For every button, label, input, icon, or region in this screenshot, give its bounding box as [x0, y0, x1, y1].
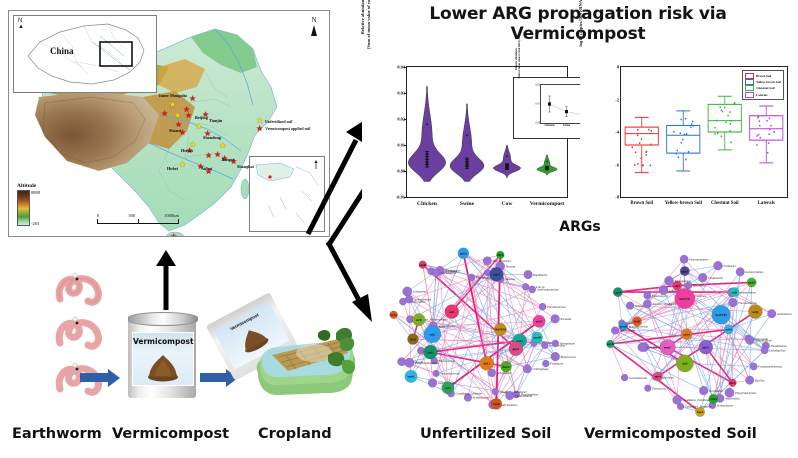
svg-text:Massilia: Massilia [504, 277, 516, 281]
box-y-tick: -8 [615, 195, 619, 200]
svg-text:Nocardia: Nocardia [559, 317, 571, 321]
compost-pile-icon [133, 349, 193, 383]
box-legend-row: Yellow-brown Soil [745, 79, 781, 85]
svg-text:Nitrosomonas: Nitrosomonas [438, 359, 456, 363]
svg-text:ermB: ermB [620, 324, 627, 328]
svg-text:ermC: ermC [664, 345, 672, 349]
box-legend-swatch [745, 92, 754, 98]
svg-text:sul2: sul2 [430, 332, 436, 336]
map-place-label: Inner Mongolia [159, 93, 187, 98]
svg-text:tetM: tetM [726, 328, 732, 332]
svg-text:Dinoroseobacter: Dinoroseobacter [688, 257, 709, 261]
altitude-max-label: 8888 [31, 190, 40, 195]
earthworm-icon-1 [52, 269, 108, 309]
svg-text:Acidobacteria: Acidobacteria [472, 396, 490, 400]
map-place-label: Jiangsu [221, 157, 235, 162]
svg-text:qnrS: qnrS [513, 347, 520, 351]
box-x-label: Brown Soil [630, 201, 653, 206]
box-plot-panel: log10 (copies/16S rRNA copies) -8-6-4-20… [580, 58, 794, 228]
inset-y-tick: 0.00 [535, 122, 540, 125]
violin-y-tickmark [404, 145, 407, 146]
svg-text:tnpA: tnpA [697, 410, 704, 414]
svg-text:Planctomyces: Planctomyces [651, 294, 669, 298]
svg-text:vanA: vanA [710, 397, 718, 401]
svg-text:floR: floR [634, 320, 640, 324]
svg-text:vanA: vanA [493, 402, 501, 406]
svg-text:blaCTX: blaCTX [679, 297, 690, 301]
violin-plot-panel: Relative abundance (Sum of mean value of… [362, 58, 574, 228]
svg-text:blaTEM: blaTEM [495, 328, 506, 332]
legend-label-unfertilized: Unfertilized soil [265, 119, 292, 124]
china-sampling-map: N▲ China [8, 10, 330, 237]
box-legend-swatch [745, 79, 754, 85]
inset-ylabel-line2: (Sum of mean value of total ARGs) [518, 40, 521, 79]
svg-text:Sphingobium: Sphingobium [560, 342, 575, 346]
box-y-tick: -4 [615, 130, 619, 135]
map-star-unfertilized: ★ [174, 112, 181, 120]
svg-text:Chujaibacter: Chujaibacter [708, 276, 724, 280]
label-cropland: Cropland [258, 426, 332, 442]
network-svg-vermicomposted: PseudomonasLysinibacillusPseudoxanthomon… [583, 238, 798, 426]
violin-x-label: Vermicompost [530, 201, 565, 207]
map-star-unfertilized: ★ [195, 123, 202, 131]
svg-text:Verrucomicrobia: Verrucomicrobia [440, 372, 460, 376]
svg-text:Flavisolibacter: Flavisolibacter [514, 394, 534, 398]
svg-text:aphA: aphA [681, 269, 689, 273]
inset-y-axis-label: Relative abundance (Sum of mean value of… [515, 36, 521, 82]
network-labels: Unfertilized Soil Vermicomposted Soil [368, 426, 798, 454]
svg-text:Alterererythrobacter: Alterererythrobacter [651, 302, 677, 306]
box-legend-row: Chestnut Soil [745, 85, 781, 91]
svg-text:Candidatus_Solibacter: Candidatus_Solibacter [456, 392, 484, 396]
svg-text:Gemmatimonas: Gemmatimonas [629, 376, 648, 380]
violin-y-tickmark [404, 93, 407, 94]
box-y-axis-label: log10 (copies/16S rRNA copies) [578, 0, 583, 72]
svg-text:Flavobacterium: Flavobacterium [737, 301, 756, 305]
svg-text:Lysinibacillus: Lysinibacillus [768, 349, 786, 353]
inset-y-tick: 0.02 [535, 84, 540, 87]
svg-text:qnrS: qnrS [655, 375, 662, 379]
process-step-labels: Earthworm Vermicompost Cropland [0, 426, 360, 454]
svg-text:Wautersiella: Wautersiella [725, 397, 740, 401]
violin-plot-area: -0.010.000.010.020.030.04 ChickenSwineCo… [406, 66, 568, 198]
box-plot-area: -8-6-4-20 Brown SoilYellow-brown SoilChe… [620, 66, 788, 198]
svg-text:dfrA: dfrA [497, 253, 504, 257]
svg-text:Flavobacterium: Flavobacterium [546, 305, 565, 309]
svg-text:sul3: sul3 [445, 386, 451, 390]
box-legend-swatch [745, 85, 754, 91]
violin-x-label: Chicken [417, 201, 437, 207]
network-unfertilized-soil: metagenomePseudomonasPedobacterChitinoph… [368, 238, 586, 426]
svg-text:Blastococcus: Blastococcus [561, 355, 577, 359]
svg-text:blaTEM: blaTEM [716, 313, 727, 317]
can-label-text: Vermicompost [133, 337, 193, 346]
svg-text:oqxB: oqxB [419, 263, 426, 267]
svg-text:Luteimonas: Luteimonas [412, 290, 427, 294]
violin-y-tickmark [404, 119, 407, 120]
svg-text:Sphingomonas: Sphingomonas [414, 297, 432, 301]
map-star-unfertilized: ★ [169, 101, 176, 109]
svg-text:strB: strB [732, 290, 738, 294]
altitude-gradient-bar [17, 190, 30, 226]
scalebar-tick-500: 500 [128, 213, 135, 218]
box-x-label: Laterals [758, 201, 775, 206]
svg-text:oqxB: oqxB [607, 342, 614, 346]
label-unfertilized-soil: Unfertilized Soil [420, 426, 551, 442]
svg-text:strB: strB [416, 318, 422, 322]
svg-text:mefA: mefA [502, 365, 510, 369]
box-legend-row: Brown Soil [745, 73, 781, 79]
violin-y-tickmark [404, 171, 407, 172]
violin-y-tickmark [404, 67, 407, 68]
svg-text:cmlA: cmlA [614, 290, 622, 294]
inset-x-label: Swine [563, 124, 570, 127]
map-star-vermicompost: ★ [185, 112, 192, 120]
svg-text:Phenylobacterium: Phenylobacterium [734, 391, 756, 395]
svg-text:intI1: intI1 [703, 345, 710, 349]
map-star-vermicompost: ★ [189, 95, 196, 103]
altitude-legend: Altitude 8888 -263 [17, 183, 36, 226]
box-x-label: Chestnut Soil [711, 201, 739, 206]
label-vermicompost: Vermicompost [112, 426, 229, 442]
svg-text:Bacillus: Bacillus [755, 378, 765, 382]
earthworm-icon-2 [52, 313, 108, 353]
svg-text:aadA: aadA [683, 332, 691, 336]
map-star-vermicompost: ★ [205, 152, 212, 160]
scalebar-tick-0: 0 [97, 213, 99, 218]
china-outline-svg [14, 16, 156, 92]
svg-text:mefA: mefA [748, 281, 756, 285]
svg-text:Fusibacter: Fusibacter [722, 264, 736, 268]
map-star-vermicompost: ★ [170, 233, 177, 237]
violin-x-label: Swine [460, 201, 474, 207]
box-y-tick: -6 [615, 162, 619, 167]
north-arrow-icon [311, 25, 317, 36]
svg-text:Pseudomonas: Pseudomonas [770, 344, 788, 348]
svg-text:Paracoccus: Paracoccus [651, 386, 667, 390]
args-section-label: ARGs [520, 219, 640, 235]
box-y-tick: -2 [615, 97, 619, 102]
svg-text:Janthinobacterium: Janthinobacterium [537, 288, 559, 292]
map-place-label: Shanghai [237, 164, 254, 169]
inset-north-arrow: N▲ [18, 18, 24, 30]
violin-ylabel-line1: Relative abundance [360, 0, 365, 34]
altitude-min-label: -263 [31, 221, 39, 226]
svg-text:Aeromicrobium: Aeromicrobium [744, 270, 763, 274]
map-place-label: Henan [181, 148, 193, 153]
violin-ylabel-line2: (Sum of mean value of each ARGs) [366, 0, 371, 49]
svg-text:ermB: ermB [533, 336, 540, 340]
label-earthworm: Earthworm [12, 426, 102, 442]
box-legend-label: Yellow-brown Soil [756, 80, 781, 84]
network-svg-unfertilized: metagenomePseudomonasPedobacterChitinoph… [368, 238, 586, 426]
vermicompost-can: Vermicompost [128, 310, 196, 398]
box-plot-legend: Brown SoilYellow-brown SoilChestnut Soil… [742, 70, 784, 100]
svg-text:Steroidobacter: Steroidobacter [755, 339, 773, 343]
north-label: N [311, 16, 316, 24]
map-scalebar: 0 500 1000km [97, 213, 179, 224]
svg-text:tetW: tetW [536, 320, 543, 324]
box-legend-label: Chestnut Soil [756, 86, 774, 90]
map-place-label: Tianjin [209, 118, 222, 123]
svg-text:aadA: aadA [407, 375, 415, 379]
svg-text:Chitinophaga: Chitinophaga [533, 367, 549, 371]
svg-text:floR: floR [410, 337, 416, 341]
scalebar-tick-1000: 1000km [164, 213, 179, 218]
svg-text:cmlA: cmlA [390, 313, 398, 317]
inset-country-label: China [50, 46, 74, 56]
svg-text:sul2: sul2 [674, 284, 680, 288]
north-arrow: N [311, 17, 317, 36]
map-place-label: Hubei [167, 166, 178, 171]
box-y-tick: 0 [617, 65, 619, 70]
label-vermicomposted-soil: Vermicomposted Soil [584, 426, 757, 442]
svg-text:Micavibrio: Micavibrio [692, 284, 706, 288]
svg-text:Adhaeribacter: Adhaeribacter [438, 325, 457, 329]
svg-text:tetQ: tetQ [752, 310, 758, 314]
cropland-illustration [252, 315, 360, 397]
svg-text:Pedomicrobium: Pedomicrobium [737, 291, 756, 295]
svg-text:Acinetobacter: Acinetobacter [716, 404, 734, 408]
svg-text:Pseudoxanthomonas: Pseudoxanthomonas [414, 361, 440, 365]
svg-text:Turicibacter: Turicibacter [709, 389, 724, 393]
svg-text:Ramlibacter: Ramlibacter [532, 273, 548, 277]
box-legend-swatch [745, 73, 754, 79]
map-place-label: Shandong [203, 135, 221, 140]
scalebar-line [97, 219, 179, 224]
svg-text:intI1: intI1 [484, 362, 491, 366]
china-locator-inset: N▲ China [13, 15, 157, 93]
svg-text:tnpA: tnpA [493, 273, 500, 277]
svg-text:tetO: tetO [427, 350, 433, 354]
box-legend-row: Laterals [745, 92, 781, 98]
map-place-label: Shanxi [169, 128, 181, 133]
network-vermicomposted-soil: PseudomonasLysinibacillusPseudoxanthomon… [583, 238, 798, 426]
svg-text:Pseudoxanthomonas: Pseudoxanthomonas [757, 365, 783, 369]
inset-y-tick: 0.01 [535, 103, 540, 106]
svg-text:Devosia: Devosia [646, 346, 657, 350]
svg-text:sul1: sul1 [449, 310, 455, 314]
map-star-unfertilized: ★ [179, 161, 186, 169]
map-place-label: Anhui [201, 166, 212, 171]
box-legend-label: Laterals [756, 93, 767, 97]
svg-text:aphA: aphA [460, 251, 468, 255]
red-star-icon: ★ [256, 126, 263, 132]
svg-text:Devosia: Devosia [505, 264, 516, 268]
svg-text:dfrA: dfrA [729, 381, 736, 385]
violin-y-axis-label: Relative abundance (Sum of mean value of… [360, 0, 371, 70]
inset-x-label: Chicken [545, 124, 555, 127]
svg-text:Conexibacter: Conexibacter [441, 271, 457, 275]
svg-text:sul3: sul3 [682, 362, 688, 366]
svg-text:Arthrobacter: Arthrobacter [776, 312, 793, 316]
box-x-label: Yellow-brown Soil [665, 201, 702, 206]
map-star-vermicompost: ★ [161, 110, 168, 118]
violin-y-tickmark [404, 197, 407, 198]
box-legend-label: Brown Soil [756, 74, 771, 78]
svg-text:Pedobacter: Pedobacter [549, 362, 564, 366]
violin-x-label: Cow [502, 201, 513, 207]
black-arrow-up-to-map [148, 250, 184, 310]
map-star-unfertilized: ★ [219, 142, 226, 150]
altitude-legend-title: Altitude [17, 183, 36, 189]
map-place-label: Beijing [195, 115, 208, 120]
